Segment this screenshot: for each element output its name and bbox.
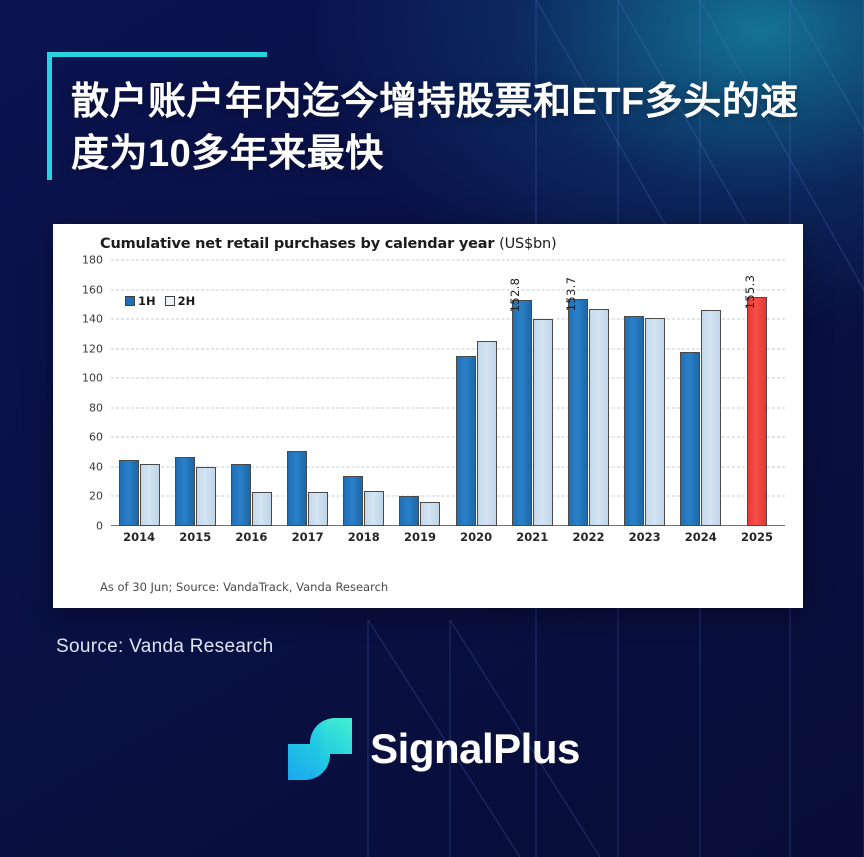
bar-2021-2H (533, 319, 553, 526)
legend-item-2h: 2H (165, 294, 196, 308)
bar-group (223, 260, 279, 526)
chart-title: Cumulative net retail purchases by calen… (100, 236, 789, 252)
legend-label-2h: 2H (178, 294, 196, 308)
bar-2024-1H (680, 352, 700, 526)
bar-2022-2H (589, 309, 609, 526)
grid-lines: 152.8153.7155.3 (111, 260, 785, 526)
bar-group (280, 260, 336, 526)
bar-group (673, 260, 729, 526)
chart-source-note: As of 30 Jun; Source: VandaTrack, Vanda … (100, 580, 388, 594)
x-axis-tick: 2018 (336, 530, 392, 544)
y-axis-tick: 160 (82, 283, 103, 296)
x-axis-tick: 2017 (280, 530, 336, 544)
bar-2020-1H (456, 356, 476, 526)
y-axis-tick: 100 (82, 372, 103, 385)
x-axis-tick: 2023 (617, 530, 673, 544)
bar-data-label: 152.8 (508, 278, 522, 312)
bar-2022-1H: 153.7 (568, 299, 588, 526)
bar-2017-1H (287, 451, 307, 526)
x-axis-tick: 2025 (729, 530, 785, 544)
x-axis-tick: 2024 (673, 530, 729, 544)
source-attribution: Source: Vanda Research (56, 636, 273, 658)
brand-name: SignalPlus (370, 725, 580, 773)
bar-group (392, 260, 448, 526)
bar-2014-1H (119, 460, 139, 527)
bar-2018-2H (364, 491, 384, 526)
bar-group (448, 260, 504, 526)
bar-2019-2H (420, 502, 440, 526)
y-axis-tick: 0 (96, 520, 103, 533)
bar-2015-1H (175, 457, 195, 526)
y-axis-tick: 20 (89, 490, 103, 503)
bar-series-container: 152.8153.7155.3 (111, 260, 785, 526)
signalplus-wave-icon (284, 716, 356, 782)
chart-legend: 1H 2H (125, 294, 195, 308)
bar-2024-2H (701, 310, 721, 526)
bar-2017-2H (308, 492, 328, 526)
bar-2023-2H (645, 318, 665, 526)
x-axis-tick: 2015 (167, 530, 223, 544)
bar-2018-1H (343, 476, 363, 526)
headline-block: 散户账户年内迄今增持股票和ETF多头的速度为10多年来最快 (47, 52, 807, 181)
x-axis-tick: 2014 (111, 530, 167, 544)
x-axis-tick: 2020 (448, 530, 504, 544)
y-axis-tick: 60 (89, 431, 103, 444)
y-axis: 180160140120100806040200 (67, 260, 107, 526)
y-axis-tick: 120 (82, 342, 103, 355)
legend-label-1h: 1H (138, 294, 156, 308)
bar-2014-2H (140, 464, 160, 526)
bar-2016-1H (231, 464, 251, 526)
bar-2021-1H: 152.8 (512, 300, 532, 526)
chart-inner: Cumulative net retail purchases by calen… (53, 224, 803, 608)
y-axis-tick: 180 (82, 254, 103, 267)
legend-swatch-2h-icon (165, 296, 175, 306)
bar-group: 155.3 (729, 260, 785, 526)
x-axis: 2014201520162017201820192020202120222023… (111, 530, 785, 544)
bar-2019-1H (399, 496, 419, 526)
bar-data-label: 155.3 (743, 274, 757, 308)
x-axis-tick: 2021 (504, 530, 560, 544)
y-axis-tick: 140 (82, 313, 103, 326)
poster: 散户账户年内迄今增持股票和ETF多头的速度为10多年来最快 Cumulative… (0, 0, 864, 857)
bar-2025-1H: 155.3 (747, 297, 767, 526)
bar-group: 153.7 (560, 260, 616, 526)
bar-2023-1H (624, 316, 644, 526)
bar-group: 152.8 (504, 260, 560, 526)
x-axis-tick: 2022 (560, 530, 616, 544)
x-axis-tick: 2019 (392, 530, 448, 544)
chart-card: Cumulative net retail purchases by calen… (53, 224, 803, 608)
bar-2016-2H (252, 492, 272, 526)
bar-group (336, 260, 392, 526)
bar-data-label: 153.7 (564, 277, 578, 311)
legend-swatch-1h-icon (125, 296, 135, 306)
page-title: 散户账户年内迄今增持股票和ETF多头的速度为10多年来最快 (47, 52, 807, 181)
y-axis-tick: 80 (89, 401, 103, 414)
bar-group (617, 260, 673, 526)
bar-2015-2H (196, 467, 216, 526)
legend-item-1h: 1H (125, 294, 156, 308)
chart-title-unit: (US$bn) (499, 236, 556, 252)
plot-area: 180160140120100806040200 152.8153.7155.3… (67, 260, 789, 562)
y-axis-tick: 40 (89, 460, 103, 473)
x-axis-tick: 2016 (223, 530, 279, 544)
bar-2020-2H (477, 341, 497, 526)
chart-title-text: Cumulative net retail purchases by calen… (100, 236, 494, 252)
brand-logo: SignalPlus (0, 716, 864, 782)
